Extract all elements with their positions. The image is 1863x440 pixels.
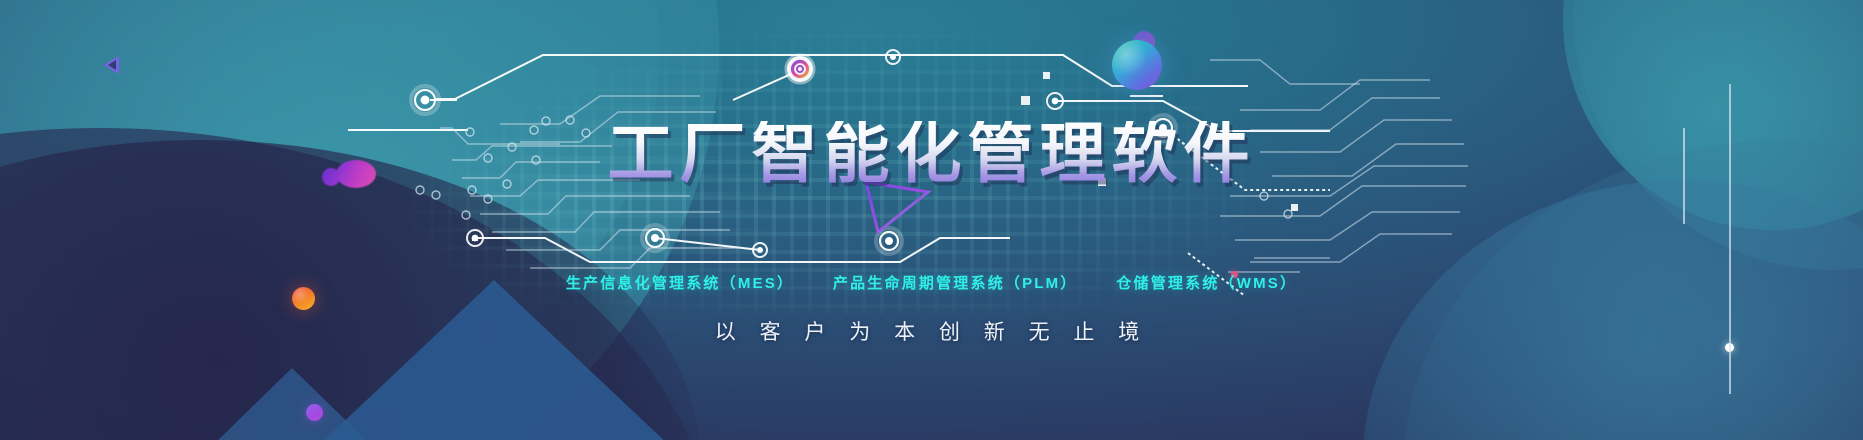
gradient-sphere [1112,40,1162,90]
tagline: 以 客 户 为 本 创 新 无 止 境 [0,316,1863,346]
violet-dot [306,404,323,421]
hero-banner: 工厂智能化管理软件 生产信息化管理系统（MES） 产品生命周期管理系统（PLM）… [0,0,1863,440]
product-item-wms: 仓储管理系统（WMS） [1116,275,1297,292]
product-item-mes: 生产信息化管理系统（MES） [566,275,794,292]
product-list: 生产信息化管理系统（MES） 产品生命周期管理系统（PLM） 仓储管理系统（WM… [0,272,1863,293]
small-triangle-icon [104,56,119,74]
product-item-plm: 产品生命周期管理系统（PLM） [833,275,1078,292]
page-title: 工厂智能化管理软件 [0,121,1863,187]
